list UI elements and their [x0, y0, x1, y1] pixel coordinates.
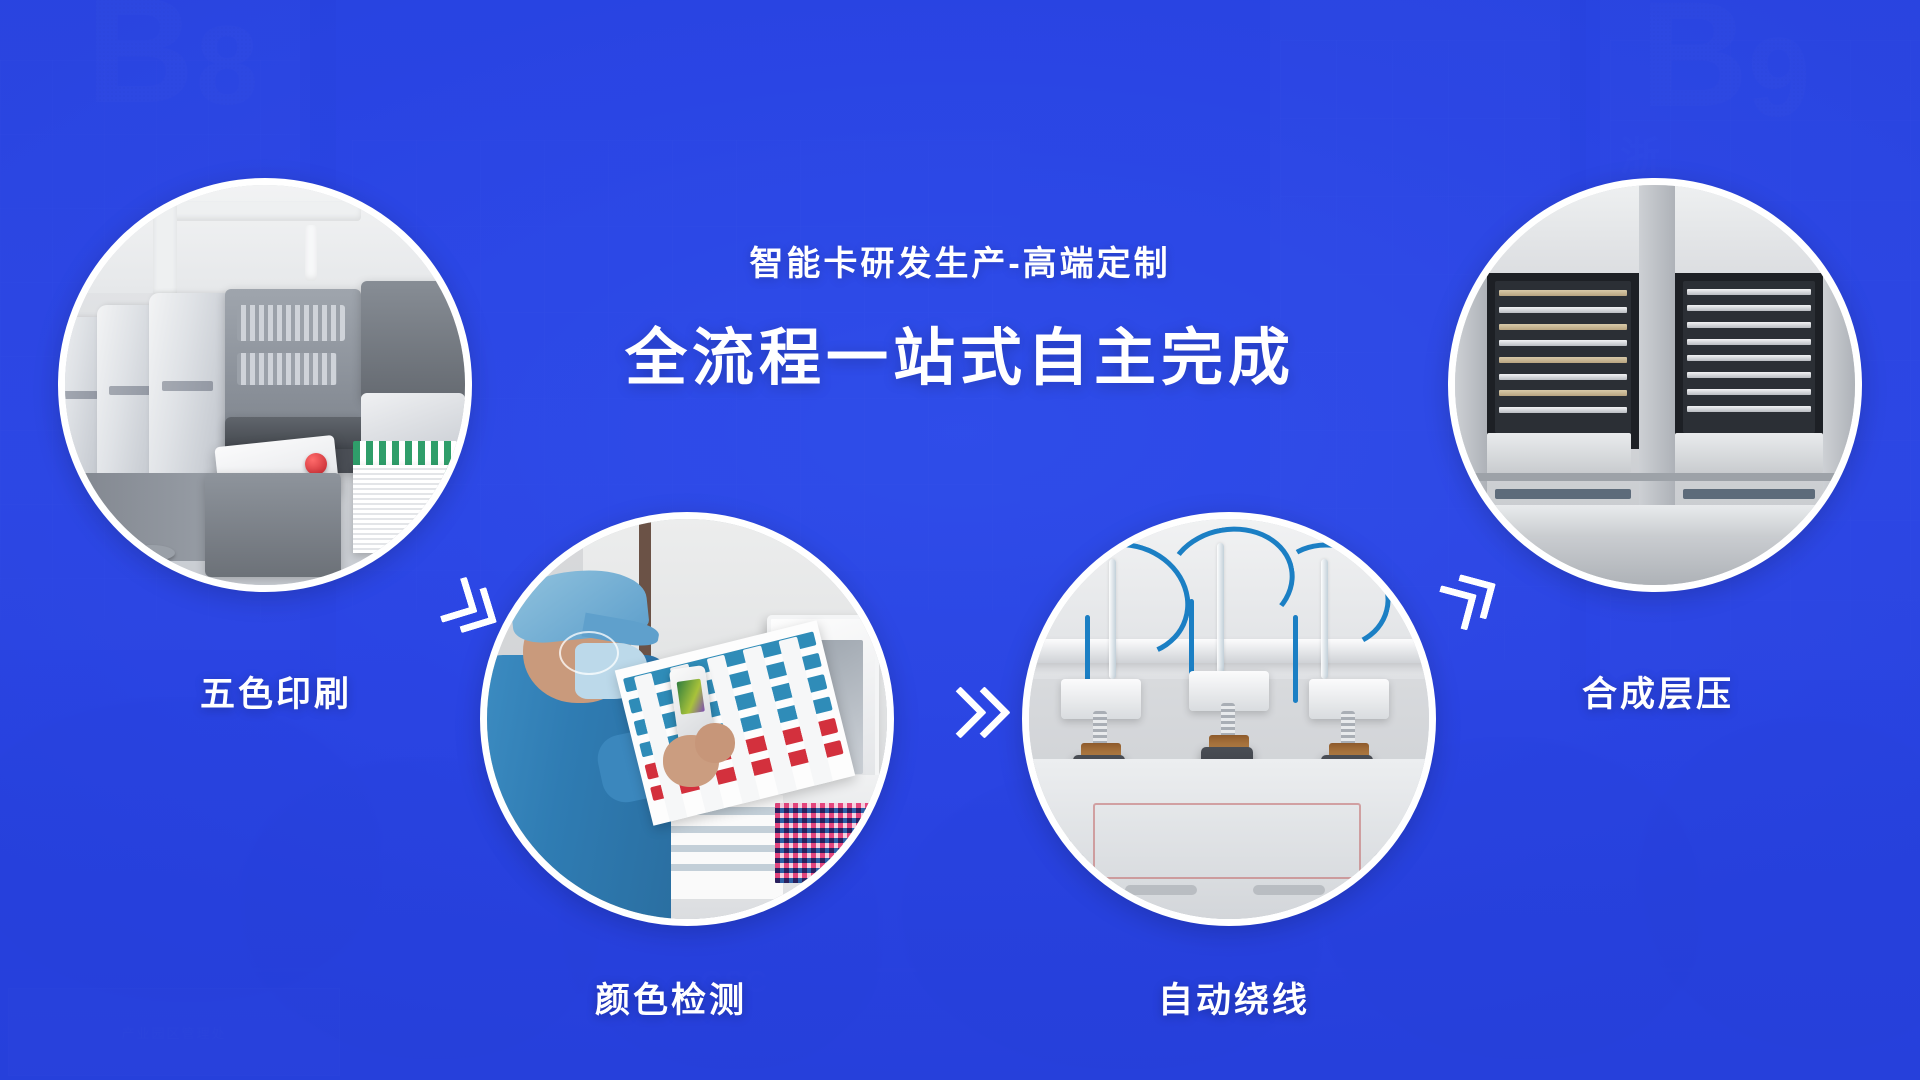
automatic-coil-winding-machine-photo: [1029, 519, 1429, 919]
step-3-image-circle[interactable]: [1022, 512, 1436, 926]
arrow-2-double-chevron: [940, 680, 1010, 740]
step-2-label: 颜色检测: [595, 972, 747, 1023]
step-3-label: 自动绕线: [1158, 972, 1310, 1023]
step-4-image-circle[interactable]: [1448, 178, 1862, 592]
step-2-image-circle[interactable]: [480, 512, 894, 926]
color-inspection-worker-photo: [487, 519, 887, 919]
step-1-label: 五色印刷: [200, 666, 352, 717]
offset-printing-press-photo: [65, 185, 465, 585]
step-1-image-circle[interactable]: [58, 178, 472, 592]
lamination-press-photo: [1455, 185, 1855, 585]
poster-stage: B 8 B 9 浙 产业园区管理处 GSC 智能卡研发生产-高端定制 全流程一站…: [0, 0, 1920, 1080]
step-4-label: 合成层压: [1582, 666, 1734, 717]
